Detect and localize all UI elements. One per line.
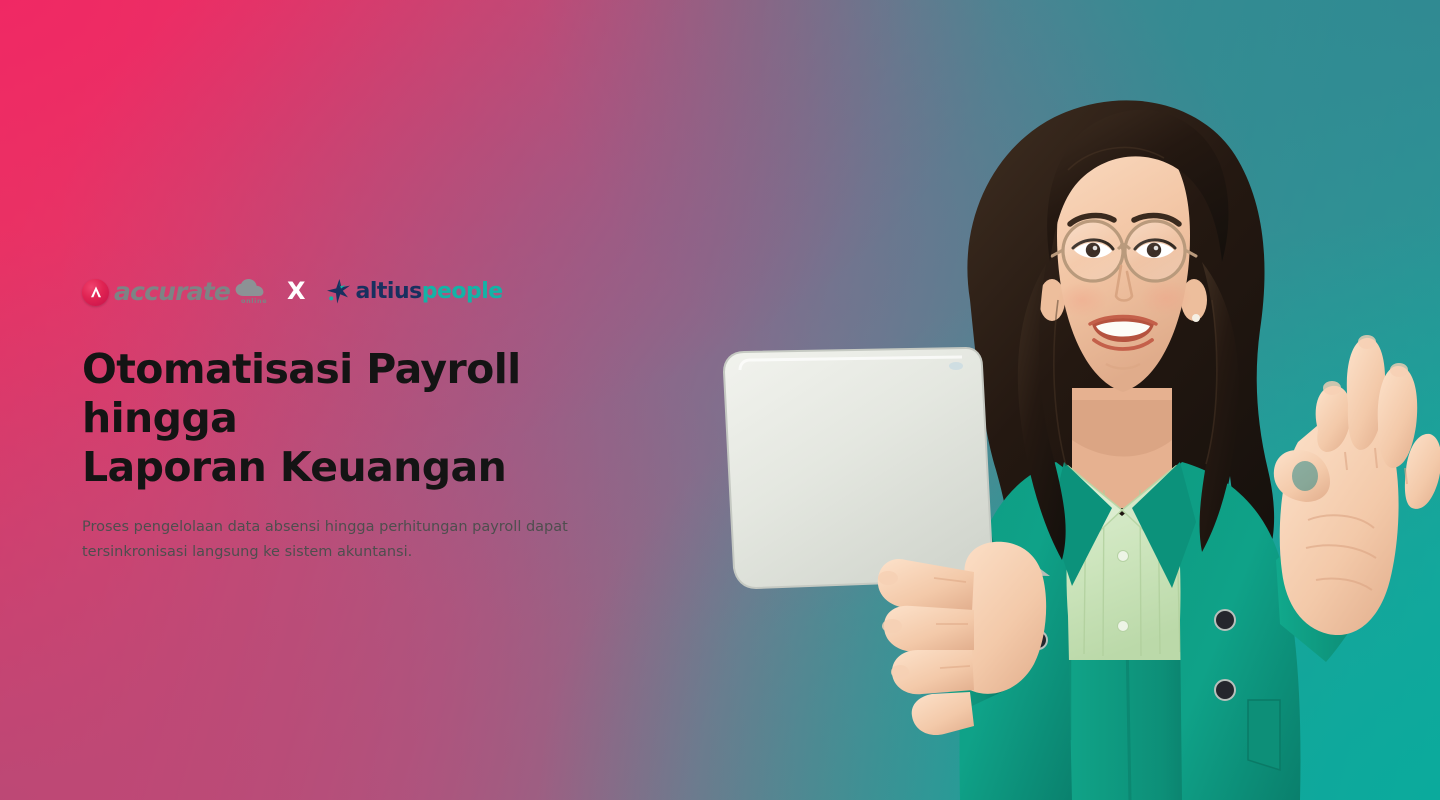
- altius-people-logo[interactable]: altiuspeople: [324, 277, 503, 307]
- altius-word-secondary: people: [422, 279, 503, 304]
- altius-star-icon: [324, 278, 352, 306]
- altius-word-primary: altius: [356, 279, 422, 304]
- altius-wordmark: altiuspeople: [356, 281, 503, 303]
- hero-subtitle: Proses pengelolaan data absensi hingga p…: [82, 515, 642, 567]
- x-separator-icon: X: [283, 279, 310, 303]
- subtitle-line-1: Proses pengelolaan data absensi hingga p…: [82, 519, 568, 535]
- logo-lockup: accurate online X: [82, 275, 702, 309]
- accurate-wordmark: accurate: [114, 279, 230, 304]
- cloud-icon: [235, 279, 267, 299]
- headline-line-2: Laporan Keuangan: [82, 443, 506, 491]
- hero-banner: accurate online X: [0, 0, 1440, 800]
- hero-headline: Otomatisasi Payroll hingga Laporan Keuan…: [82, 345, 672, 493]
- hero-content: accurate online X: [82, 275, 702, 566]
- accurate-cloud-group: online: [235, 277, 269, 307]
- headline-line-1: Otomatisasi Payroll hingga: [82, 345, 521, 442]
- accurate-online-label: online: [241, 297, 267, 305]
- accurate-logo[interactable]: accurate online: [82, 277, 269, 307]
- subtitle-line-2: tersinkronisasi langsung ke sistem akunt…: [82, 544, 412, 560]
- accurate-a-badge-icon: [82, 279, 109, 306]
